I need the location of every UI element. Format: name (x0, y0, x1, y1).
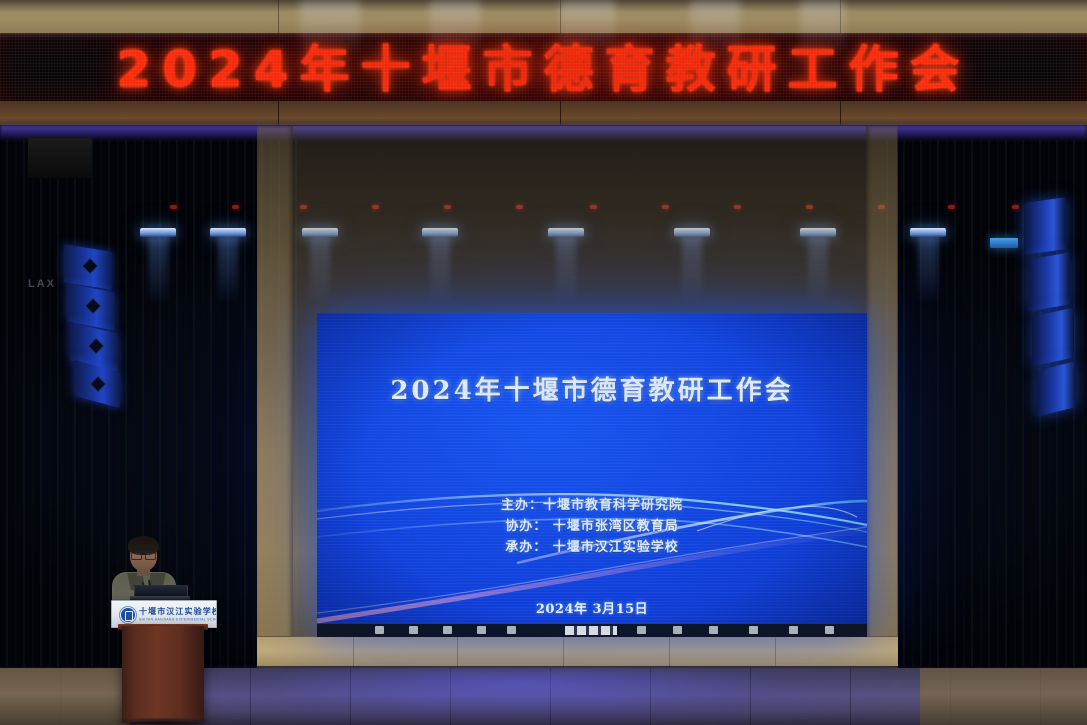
podium-and-speaker: 十堰市汉江实验学校 SHIYAN HANJIANG EXPERIMENTAL S… (104, 534, 234, 725)
speaker-cabinet-top (28, 138, 92, 178)
led-banner: 2024年十堰市德育教研工作会 (0, 33, 1087, 101)
stage-floor-light-pool (120, 668, 920, 725)
stage-photo-scene: 2024年十堰市德育教研工作会 (0, 0, 1087, 725)
projection-screen: 2024年十堰市德育教研工作会 主办：十堰市教育科学研究院 协办： 十堰市张湾区… (317, 313, 867, 636)
credit-line-host: 主办：十堰市教育科学研究院 (317, 495, 867, 516)
banner-wood-trim (0, 101, 1087, 125)
credit-line-organizer: 承办： 十堰市汉江实验学校 (317, 537, 867, 558)
speaker-indicator-right (990, 238, 1018, 248)
credit-line-cohost: 协办： 十堰市张湾区教育局 (317, 516, 867, 537)
podium-plaque-chinese-text: 十堰市汉江实验学校 (139, 606, 217, 617)
line-array-speaker-left: LAX (28, 138, 124, 438)
school-emblem-icon (120, 607, 136, 623)
screen-date: 2024年 3月15日 (317, 598, 867, 617)
screen-swoosh-graphic (317, 313, 867, 636)
screen-pillar-left (257, 126, 293, 671)
led-banner-text: 2024年十堰市德育教研工作会 (0, 33, 1087, 101)
ceiling-wood-panel (0, 0, 1087, 34)
line-array-speaker-right (1018, 200, 1082, 420)
screen-credits: 主办：十堰市教育科学研究院 协办： 十堰市张湾区教育局 承办： 十堰市汉江实验学… (317, 495, 867, 558)
podium-shadow (110, 718, 216, 725)
speaker-brand-label: LAX (28, 278, 56, 290)
screen-pillar-right (866, 126, 898, 671)
screen-taskbar-strip (317, 624, 867, 637)
stage-floor-wood-right (920, 668, 1087, 725)
screen-title: 2024年十堰市德育教研工作会 (317, 370, 867, 407)
speaker-glasses (131, 551, 155, 558)
podium-body (122, 626, 204, 722)
podium-plaque-english-text: SHIYAN HANJIANG EXPERIMENTAL SCHOOL (139, 617, 217, 622)
